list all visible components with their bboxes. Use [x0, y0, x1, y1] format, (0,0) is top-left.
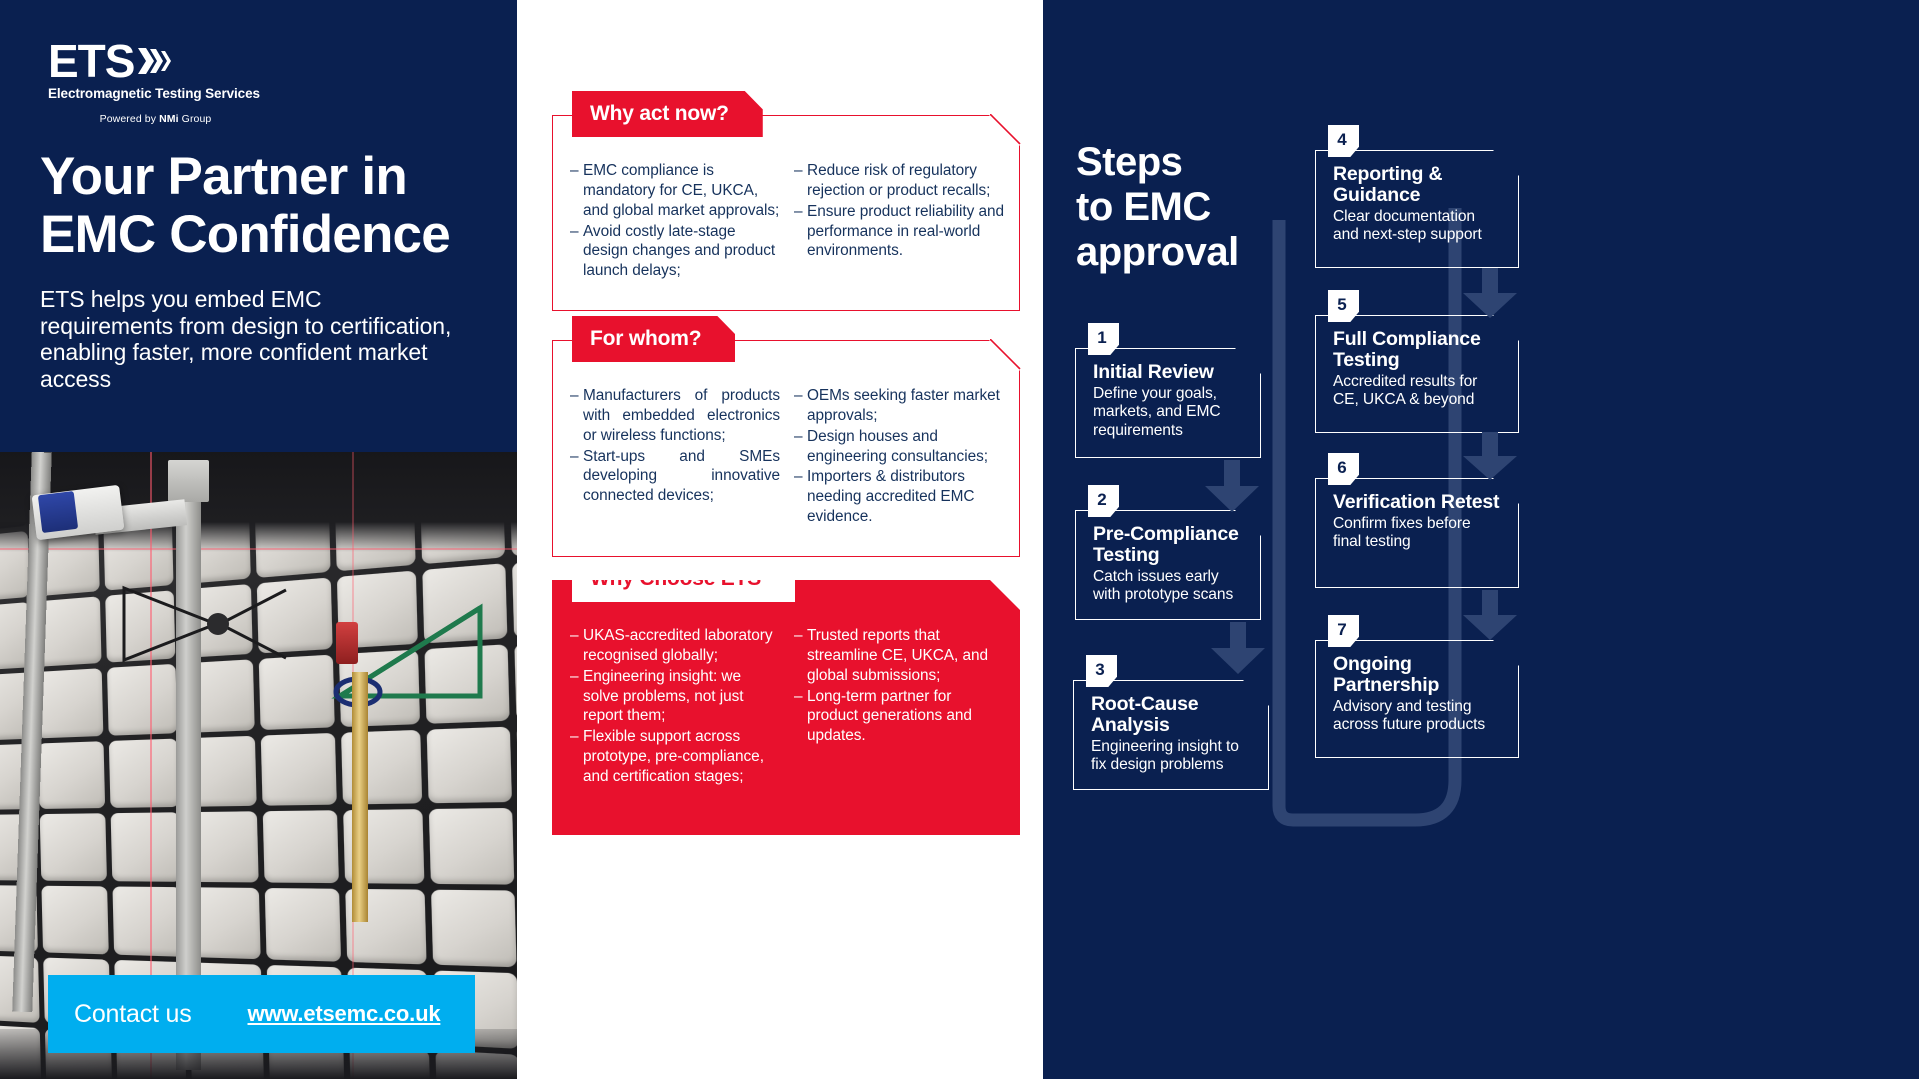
card-column-left: –EMC compliance is mandatory for CE, UKC…	[570, 161, 780, 282]
bullet-dash-icon: –	[794, 161, 807, 201]
logo-wordmark: ETS	[48, 38, 134, 84]
step-card-3: Root-Cause AnalysisEngineering insight t…	[1073, 680, 1269, 790]
step-number: 7	[1337, 620, 1346, 640]
photo-red-indicator	[336, 622, 358, 664]
absorber-tile	[111, 812, 181, 881]
step-card-content: Reporting & GuidanceClear documentation …	[1333, 164, 1502, 245]
powered-prefix: Powered by	[100, 113, 159, 125]
list-item-text: Ensure product reliability and performan…	[807, 202, 1004, 262]
hero-subtitle: ETS helps you embed EMC requirements fro…	[40, 286, 460, 393]
headline-line-1: Your Partner in	[40, 148, 500, 206]
step-number-badge-3: 3	[1086, 655, 1117, 687]
list-item: –Trusted reports that streamline CE, UKC…	[794, 626, 1004, 686]
step-card-5: Full Compliance TestingAccredited result…	[1315, 315, 1519, 433]
steps-title-line-1: Steps	[1076, 140, 1326, 185]
step-number: 5	[1337, 295, 1346, 315]
list-item: –Importers & distributors needing accred…	[794, 467, 1004, 527]
step-title: Pre-Compliance Testing	[1093, 524, 1244, 566]
bullet-dash-icon: –	[794, 386, 807, 426]
laser-line-horizontal	[0, 548, 517, 550]
card-body: –EMC compliance is mandatory for CE, UKC…	[552, 115, 1020, 300]
list-item-text: Design houses and engineering consultanc…	[807, 427, 1004, 467]
bullet-dash-icon: –	[570, 386, 583, 446]
step-card-2: Pre-Compliance TestingCatch issues early…	[1075, 510, 1261, 620]
list-item: –Design houses and engineering consultan…	[794, 427, 1004, 467]
list-item: –Ensure product reliability and performa…	[794, 202, 1004, 262]
step-description: Confirm fixes before final testing	[1333, 515, 1502, 552]
list-item-text: EMC compliance is mandatory for CE, UKCA…	[583, 161, 780, 221]
step-number-badge-5: 5	[1328, 290, 1359, 322]
card-header-flag-for-whom: For whom?	[572, 316, 735, 362]
absorber-tile	[429, 808, 514, 884]
step-card-content: Pre-Compliance TestingCatch issues early…	[1093, 524, 1244, 605]
card-body: –UKAS-accredited laboratory recognised g…	[552, 580, 1020, 806]
bullet-dash-icon: –	[794, 687, 807, 747]
powered-suffix: Group	[179, 113, 212, 125]
absorber-tile	[260, 732, 337, 805]
steps-panel: Steps to EMC approval Initial ReviewDefi…	[1043, 0, 1919, 1079]
list-item: –Avoid costly late-stage design changes …	[570, 222, 780, 282]
bullet-dash-icon: –	[570, 667, 583, 727]
step-number: 2	[1097, 490, 1106, 510]
absorber-tile	[40, 813, 107, 881]
step-title: Ongoing Partnership	[1333, 654, 1502, 696]
step-number-badge-6: 6	[1328, 453, 1359, 485]
left-hero-panel: ETS Electromagnetic Testing Services Pow…	[0, 0, 517, 1079]
step-title: Root-Cause Analysis	[1091, 694, 1252, 736]
absorber-tile	[107, 664, 177, 736]
step-title: Verification Retest	[1333, 492, 1502, 513]
step-card-content: Verification RetestConfirm fixes before …	[1333, 492, 1502, 552]
absorber-tile	[431, 889, 516, 966]
list-item-text: Start-ups and SMEs developing innovative…	[583, 447, 780, 507]
absorber-tile	[109, 738, 179, 808]
list-item-text: Long-term partner for product generation…	[807, 687, 1004, 747]
step-title: Initial Review	[1093, 362, 1244, 383]
logo-tagline: Electromagnetic Testing Services	[48, 86, 263, 101]
absorber-tile	[264, 888, 341, 961]
absorber-tile	[427, 726, 512, 803]
card-title: Why Choose ETS	[590, 567, 761, 591]
middle-content-panel: Why act now?–EMC compliance is mandatory…	[517, 0, 1043, 1079]
card-column-left: –Manufacturers of products with embedded…	[570, 386, 780, 528]
card-column-left: –UKAS-accredited laboratory recognised g…	[570, 626, 780, 788]
flow-arrow-down-icon	[1205, 460, 1259, 512]
website-link[interactable]: www.etsemc.co.uk	[248, 1001, 441, 1027]
list-item-text: Reduce risk of regulatory rejection or p…	[807, 161, 1004, 201]
bullet-dash-icon: –	[794, 626, 807, 686]
headline-line-2: EMC Confidence	[40, 206, 500, 264]
photo-blue-module	[38, 491, 78, 533]
absorber-tile-row	[0, 802, 517, 889]
list-item-text: OEMs seeking faster market approvals;	[807, 386, 1004, 426]
step-number: 4	[1337, 130, 1346, 150]
bullet-dash-icon: –	[570, 447, 583, 507]
logo-mark: ETS	[48, 38, 263, 84]
step-title: Reporting & Guidance	[1333, 164, 1502, 206]
step-card-content: Root-Cause AnalysisEngineering insight t…	[1091, 694, 1252, 775]
absorber-tile	[112, 886, 182, 956]
step-title: Full Compliance Testing	[1333, 329, 1502, 371]
card-header-flag-why-act-now: Why act now?	[572, 91, 763, 137]
photo-mast-cap	[168, 460, 209, 502]
step-number: 3	[1095, 660, 1104, 680]
list-item: –Flexible support across prototype, pre-…	[570, 727, 780, 787]
step-description: Advisory and testing across future produ…	[1333, 698, 1502, 735]
info-card-for-whom: For whom?–Manufacturers of products with…	[552, 340, 1020, 557]
step-number-badge-1: 1	[1088, 323, 1119, 355]
list-item: –Reduce risk of regulatory rejection or …	[794, 161, 1004, 201]
step-card-content: Initial ReviewDefine your goals, markets…	[1093, 362, 1244, 440]
list-item-text: Importers & distributors needing accredi…	[807, 467, 1004, 527]
card-header-flag-why-choose-ets: Why Choose ETS	[572, 556, 795, 602]
list-item-text: Avoid costly late-stage design changes a…	[583, 222, 780, 282]
list-item: –Manufacturers of products with embedded…	[570, 386, 780, 446]
step-description: Engineering insight to fix design proble…	[1091, 738, 1252, 775]
step-number: 1	[1097, 328, 1106, 348]
step-card-7: Ongoing PartnershipAdvisory and testing …	[1315, 640, 1519, 758]
step-card-4: Reporting & GuidanceClear documentation …	[1315, 150, 1519, 268]
step-description: Accredited results for CE, UKCA & beyond	[1333, 373, 1502, 410]
list-item-text: Manufacturers of products with embedded …	[583, 386, 780, 446]
list-item: –Long-term partner for product generatio…	[794, 687, 1004, 747]
list-item-text: Engineering insight: we solve problems, …	[583, 667, 780, 727]
step-description: Clear documentation and next-step suppor…	[1333, 208, 1502, 245]
info-cards-container: Why act now?–EMC compliance is mandatory…	[517, 0, 1043, 255]
step-card-content: Full Compliance TestingAccredited result…	[1333, 329, 1502, 410]
absorber-tile	[38, 741, 105, 809]
contact-bar[interactable]: Contact us www.etsemc.co.uk	[48, 975, 475, 1053]
bullet-dash-icon: –	[570, 161, 583, 221]
step-number: 6	[1337, 458, 1346, 478]
step-card-content: Ongoing PartnershipAdvisory and testing …	[1333, 654, 1502, 735]
card-column-right: –Reduce risk of regulatory rejection or …	[794, 161, 1004, 282]
page-title: Your Partner in EMC Confidence	[40, 148, 500, 264]
card-column-right: –Trusted reports that streamline CE, UKC…	[794, 626, 1004, 788]
card-title: For whom?	[590, 327, 701, 351]
list-item: –EMC compliance is mandatory for CE, UKC…	[570, 161, 780, 221]
card-body: –Manufacturers of products with embedded…	[552, 340, 1020, 546]
step-description: Catch issues early with prototype scans	[1093, 568, 1244, 605]
flow-arrow-down-icon	[1463, 432, 1517, 480]
list-item-text: Flexible support across prototype, pre-c…	[583, 727, 780, 787]
infographic-page: ETS Electromagnetic Testing Services Pow…	[0, 0, 1919, 1079]
photo-amber-column	[352, 672, 368, 922]
bullet-dash-icon: –	[570, 626, 583, 666]
bullet-dash-icon: –	[794, 427, 807, 467]
list-item: –UKAS-accredited laboratory recognised g…	[570, 626, 780, 666]
bullet-dash-icon: –	[794, 467, 807, 527]
contact-label: Contact us	[74, 1000, 192, 1029]
flow-arrow-down-icon	[1463, 268, 1517, 318]
list-item: –OEMs seeking faster market approvals;	[794, 386, 1004, 426]
list-item: –Start-ups and SMEs developing innovativ…	[570, 447, 780, 507]
step-card-1: Initial ReviewDefine your goals, markets…	[1075, 348, 1261, 458]
list-item: –Engineering insight: we solve problems,…	[570, 667, 780, 727]
card-column-right: –OEMs seeking faster market approvals;–D…	[794, 386, 1004, 528]
powered-brand: NMi	[159, 113, 179, 125]
step-description: Define your goals, markets, and EMC requ…	[1093, 385, 1244, 440]
absorber-tile	[262, 810, 339, 882]
step-number-badge-4: 4	[1328, 125, 1359, 157]
bullet-dash-icon: –	[570, 222, 583, 282]
ets-logo: ETS Electromagnetic Testing Services Pow…	[48, 38, 263, 125]
flow-arrow-down-icon	[1211, 622, 1265, 674]
step-card-6: Verification RetestConfirm fixes before …	[1315, 478, 1519, 588]
info-card-why-act-now: Why act now?–EMC compliance is mandatory…	[552, 115, 1020, 311]
bullet-dash-icon: –	[570, 727, 583, 787]
list-item-text: UKAS-accredited laboratory recognised gl…	[583, 626, 780, 666]
list-item-text: Trusted reports that streamline CE, UKCA…	[807, 626, 1004, 686]
absorber-tile	[42, 885, 109, 953]
card-title: Why act now?	[590, 102, 729, 126]
step-number-badge-7: 7	[1328, 615, 1359, 647]
flow-arrow-down-icon	[1463, 590, 1517, 640]
powered-by-label: Powered by NMi Group	[48, 113, 263, 125]
photo-biconical-antenna	[120, 580, 290, 670]
bullet-dash-icon: –	[794, 202, 807, 262]
step-number-badge-2: 2	[1088, 485, 1119, 517]
absorber-tile	[36, 668, 103, 738]
info-card-why-choose-ets: Why Choose ETS–UKAS-accredited laborator…	[552, 580, 1020, 835]
signal-waves-icon	[136, 42, 172, 80]
